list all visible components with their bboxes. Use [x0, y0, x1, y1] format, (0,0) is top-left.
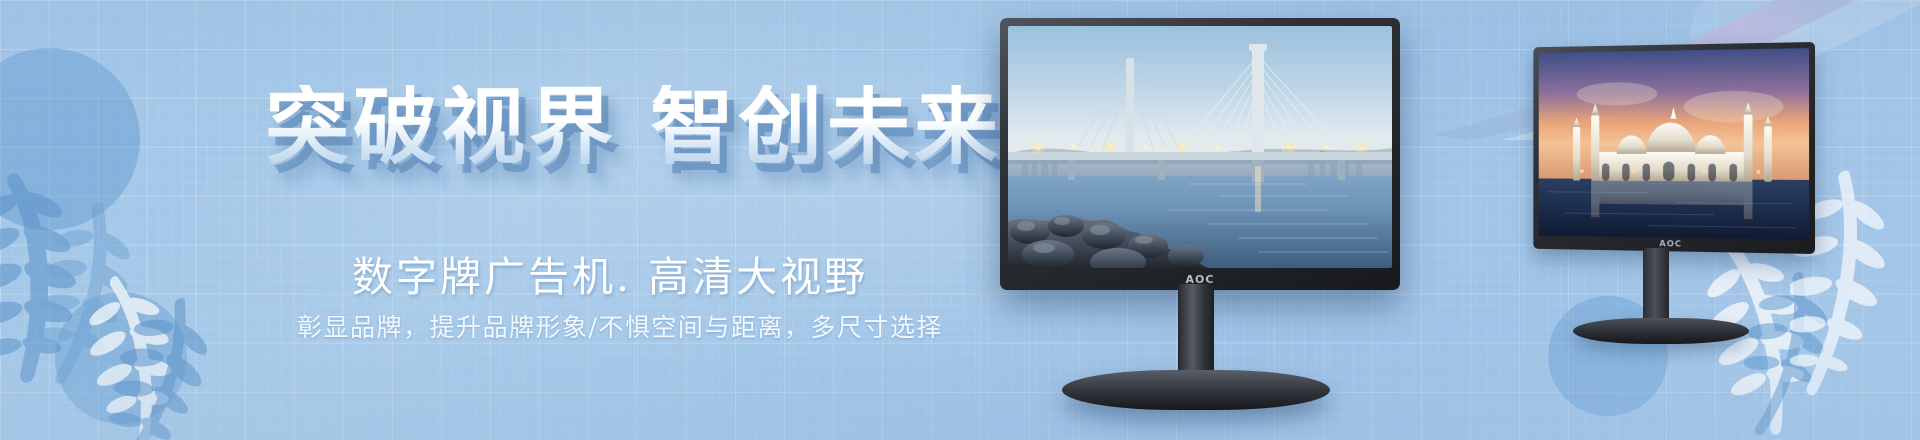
text-column: 突破视界 智创未来 数字牌广告机. 高清大视野 彰显品牌，提升品牌形象/不惧空间… — [0, 0, 1060, 440]
monitor-primary-screen — [1008, 26, 1392, 268]
monitor-primary: AOC — [1000, 18, 1400, 428]
monitor-primary-bezel: AOC — [1000, 18, 1400, 290]
promo-banner: 突破视界 智创未来 数字牌广告机. 高清大视野 彰显品牌，提升品牌形象/不惧空间… — [0, 0, 1920, 440]
banner-subtitle: 数字牌广告机. 高清大视野 — [352, 243, 868, 303]
monitor-group: AOC — [1085, 0, 1845, 440]
monitor-secondary: AOC — [1515, 42, 1815, 342]
monitor-primary-base — [1062, 370, 1330, 410]
monitor-secondary-neck — [1643, 248, 1669, 326]
monitor-secondary-screen — [1539, 48, 1809, 240]
monitor-secondary-brand: AOC — [1533, 237, 1815, 252]
monitor-primary-neck — [1178, 284, 1214, 382]
monitor-secondary-bezel: AOC — [1533, 42, 1815, 254]
banner-headline: 突破视界 智创未来 — [265, 85, 1002, 169]
monitor-secondary-base — [1573, 318, 1749, 344]
banner-description: 彰显品牌，提升品牌形象/不惧空间与距离，多尺寸选择 — [297, 308, 943, 344]
